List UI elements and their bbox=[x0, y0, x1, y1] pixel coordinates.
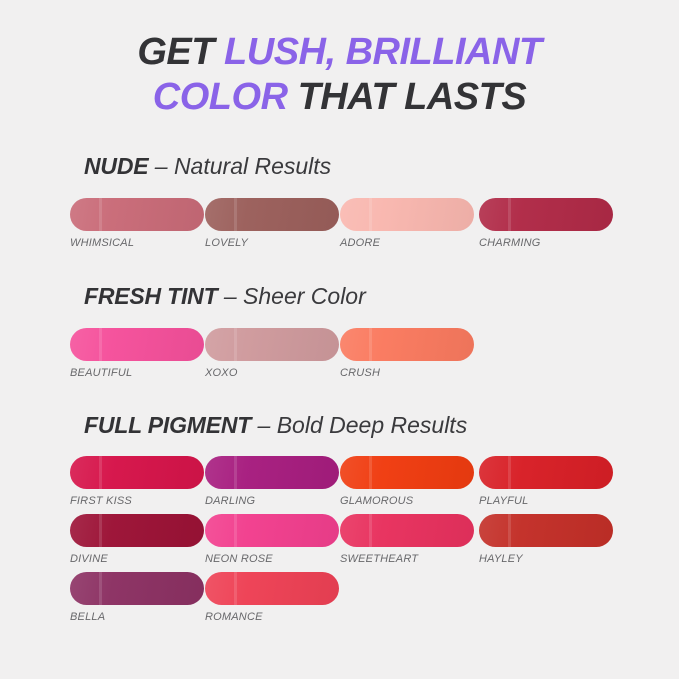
section-title: FULL PIGMENT bbox=[84, 412, 251, 438]
swatch-label: HAYLEY bbox=[479, 553, 613, 565]
swatch-divine[interactable]: DIVINE bbox=[70, 514, 204, 565]
swatch-row: WHIMSICALLOVELYADORECHARMING bbox=[0, 198, 679, 256]
swatch-hayley[interactable]: HAYLEY bbox=[479, 514, 613, 565]
color-chip[interactable] bbox=[70, 456, 204, 489]
color-chip[interactable] bbox=[70, 328, 204, 361]
section-subtitle: – Bold Deep Results bbox=[251, 412, 467, 438]
color-chip[interactable] bbox=[340, 514, 474, 547]
swatch-label: ROMANCE bbox=[205, 611, 339, 623]
swatch-row: DIVINENEON ROSESWEETHEARTHAYLEY bbox=[0, 514, 679, 572]
swatch-label: WHIMSICAL bbox=[70, 237, 204, 249]
section-title: NUDE bbox=[84, 153, 148, 179]
swatch-playful[interactable]: PLAYFUL bbox=[479, 456, 613, 507]
section-heading: NUDE – Natural Results bbox=[84, 155, 331, 178]
swatch-label: ADORE bbox=[340, 237, 474, 249]
swatch-label: NEON ROSE bbox=[205, 553, 339, 565]
swatch-label: PLAYFUL bbox=[479, 495, 613, 507]
swatch-label: BELLA bbox=[70, 611, 204, 623]
swatch-charming[interactable]: CHARMING bbox=[479, 198, 613, 249]
swatch-romance[interactable]: ROMANCE bbox=[205, 572, 339, 623]
swatch-beautiful[interactable]: BEAUTIFUL bbox=[70, 328, 204, 379]
swatch-bella[interactable]: BELLA bbox=[70, 572, 204, 623]
swatch-label: FIRST KISS bbox=[70, 495, 204, 507]
swatch-first-kiss[interactable]: FIRST KISS bbox=[70, 456, 204, 507]
swatch-xoxo[interactable]: XOXO bbox=[205, 328, 339, 379]
swatch-crush[interactable]: CRUSH bbox=[340, 328, 474, 379]
section-subtitle: – Sheer Color bbox=[217, 283, 365, 309]
headline-get-text: GET bbox=[137, 31, 224, 73]
color-chip[interactable] bbox=[479, 456, 613, 489]
section-title: FRESH TINT bbox=[84, 283, 217, 309]
swatch-label: GLAMOROUS bbox=[340, 495, 474, 507]
swatch-label: SWEETHEART bbox=[340, 553, 474, 565]
swatch-label: BEAUTIFUL bbox=[70, 367, 204, 379]
swatch-lovely[interactable]: LOVELY bbox=[205, 198, 339, 249]
swatch-grid: WHIMSICALLOVELYADORECHARMING bbox=[0, 198, 679, 256]
swatch-label: DIVINE bbox=[70, 553, 204, 565]
color-chip[interactable] bbox=[479, 198, 613, 231]
color-chip[interactable] bbox=[205, 198, 339, 231]
color-chip[interactable] bbox=[205, 456, 339, 489]
headline-accent-2: COLOR bbox=[153, 76, 288, 118]
color-chip[interactable] bbox=[70, 572, 204, 605]
color-chip[interactable] bbox=[70, 514, 204, 547]
swatch-glamorous[interactable]: GLAMOROUS bbox=[340, 456, 474, 507]
headline-that-lasts-text: THAT LASTS bbox=[288, 76, 527, 118]
color-chip[interactable] bbox=[340, 456, 474, 489]
color-chip[interactable] bbox=[205, 328, 339, 361]
swatch-whimsical[interactable]: WHIMSICAL bbox=[70, 198, 204, 249]
color-chip[interactable] bbox=[205, 572, 339, 605]
swatch-row: BEAUTIFULXOXOCRUSH bbox=[0, 328, 679, 386]
swatch-label: DARLING bbox=[205, 495, 339, 507]
headline-accent-1: LUSH, BRILLIANT bbox=[224, 31, 542, 73]
swatch-grid: BEAUTIFULXOXOCRUSH bbox=[0, 328, 679, 386]
page-headline: GET LUSH, BRILLIANT COLOR THAT LASTS bbox=[0, 30, 679, 120]
swatch-neon-rose[interactable]: NEON ROSE bbox=[205, 514, 339, 565]
section-heading: FULL PIGMENT – Bold Deep Results bbox=[84, 414, 467, 437]
swatch-grid: FIRST KISSDARLINGGLAMOROUSPLAYFULDIVINEN… bbox=[0, 456, 679, 630]
color-chip[interactable] bbox=[70, 198, 204, 231]
swatch-label: CRUSH bbox=[340, 367, 474, 379]
color-chip[interactable] bbox=[340, 198, 474, 231]
swatch-row: BELLAROMANCE bbox=[0, 572, 679, 630]
swatch-row: FIRST KISSDARLINGGLAMOROUSPLAYFUL bbox=[0, 456, 679, 514]
section-subtitle: – Natural Results bbox=[148, 153, 331, 179]
headline-line-1: GET LUSH, BRILLIANT bbox=[0, 30, 679, 75]
color-chip[interactable] bbox=[205, 514, 339, 547]
headline-line-2: COLOR THAT LASTS bbox=[0, 75, 679, 120]
swatch-adore[interactable]: ADORE bbox=[340, 198, 474, 249]
color-chip[interactable] bbox=[479, 514, 613, 547]
section-heading: FRESH TINT – Sheer Color bbox=[84, 285, 366, 308]
swatch-sweetheart[interactable]: SWEETHEART bbox=[340, 514, 474, 565]
color-chip[interactable] bbox=[340, 328, 474, 361]
swatch-label: LOVELY bbox=[205, 237, 339, 249]
swatch-label: CHARMING bbox=[479, 237, 613, 249]
swatch-label: XOXO bbox=[205, 367, 339, 379]
swatch-darling[interactable]: DARLING bbox=[205, 456, 339, 507]
